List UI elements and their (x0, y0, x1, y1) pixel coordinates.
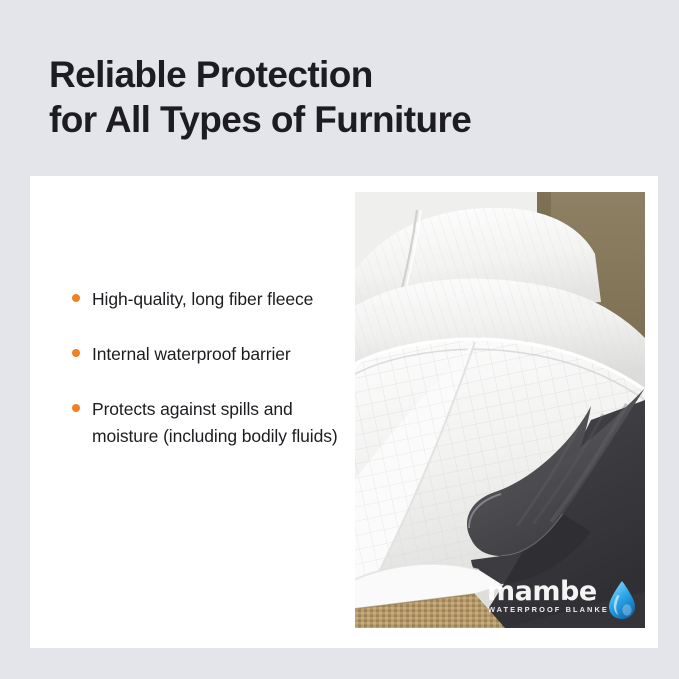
list-item: High-quality, long fiber fleece (42, 286, 342, 313)
content-card: High-quality, long fiber fleece Internal… (30, 176, 658, 648)
bullet-dot-icon (72, 294, 80, 302)
list-item: Protects against spills and moisture (in… (42, 396, 342, 450)
bullet-dot-icon (72, 349, 80, 357)
product-photo: mambe WATERPROOF BLANKETS (355, 192, 645, 628)
product-photo-image (355, 192, 645, 628)
page-title: Reliable Protection for All Types of Fur… (49, 52, 649, 142)
list-item-label: High-quality, long fiber fleece (92, 286, 342, 313)
list-item-label: Internal waterproof barrier (92, 341, 342, 368)
list-item-label: Protects against spills and moisture (in… (92, 396, 342, 450)
page-title-line-1: Reliable Protection (49, 52, 649, 97)
bullet-dot-icon (72, 404, 80, 412)
feature-list: High-quality, long fiber fleece Internal… (42, 286, 342, 450)
page-title-line-2: for All Types of Furniture (49, 97, 649, 142)
list-item: Internal waterproof barrier (42, 341, 342, 368)
